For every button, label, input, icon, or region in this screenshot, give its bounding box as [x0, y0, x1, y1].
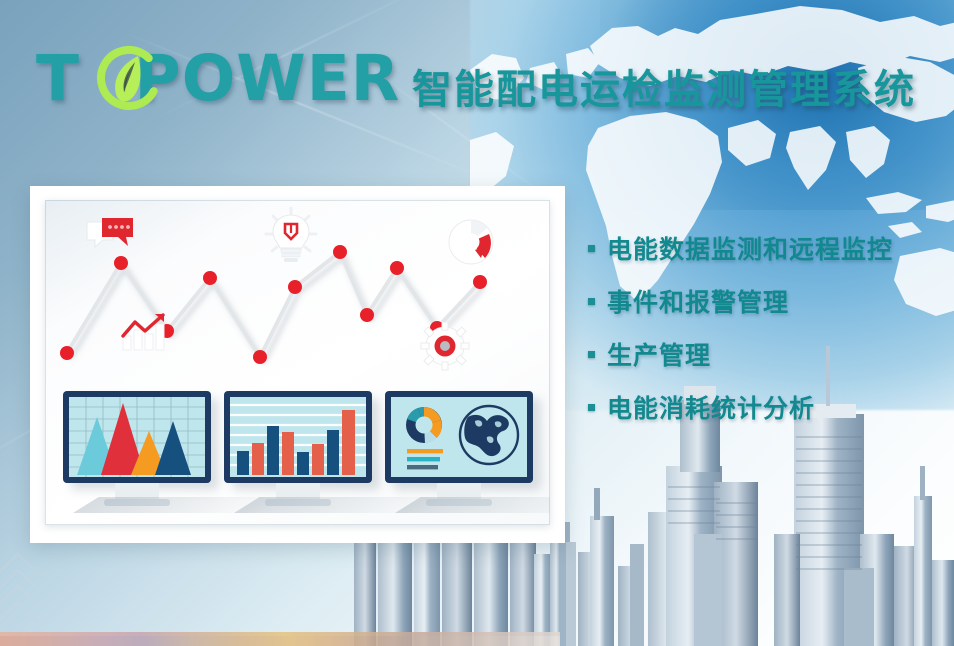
feature-label: 生产管理: [607, 336, 711, 372]
screen-bezel: [385, 391, 533, 483]
feature-label: 事件和报警管理: [607, 283, 789, 319]
bottom-photo-strip: [0, 632, 560, 646]
monitor-base: [426, 499, 492, 506]
promo-banner: TOPOWER 智能配电运检监测管理系统 电能数据监测和远程监控 事件和报警管理…: [0, 0, 954, 646]
bar-chart-trend-icon: [119, 312, 167, 352]
gear-icon: [419, 320, 471, 372]
chat-bubble-icon: [85, 216, 135, 256]
vertical-bar-chart: [230, 397, 366, 477]
monitor-neck: [437, 483, 481, 499]
monitor-bar-chart: [224, 391, 372, 511]
screen-bezel: [224, 391, 372, 483]
illustration-canvas: [45, 200, 550, 525]
donut-chart: [406, 407, 442, 443]
monitor-base: [265, 499, 331, 506]
logo-wordmark: TOPOWER: [36, 47, 400, 110]
list-item: 事件和报警管理: [588, 283, 938, 319]
list-item: 生产管理: [588, 336, 938, 372]
dashboard-graphic: [391, 397, 527, 477]
brand-logo: TOPOWER: [36, 42, 400, 114]
monitor-neck: [115, 483, 159, 499]
monitor-base: [104, 499, 170, 506]
bullet-square-icon: [588, 404, 595, 411]
illustration-panel: [30, 186, 565, 543]
list-item: 电能数据监测和远程监控: [588, 230, 938, 266]
area-peaks-chart: [69, 397, 205, 477]
bullet-square-icon: [588, 298, 595, 305]
feature-list: 电能数据监测和远程监控 事件和报警管理 生产管理 电能消耗统计分析: [588, 230, 938, 442]
feature-label: 电能消耗统计分析: [607, 389, 815, 425]
logo-text-power: POWER: [135, 42, 401, 115]
list-item: 电能消耗统计分析: [588, 389, 938, 425]
leaf-in-circle-icon: [92, 40, 166, 114]
chevron-arrows-decoration: [0, 548, 86, 628]
logo-letter-t: T: [36, 42, 80, 115]
pie-chart-icon: [445, 216, 497, 268]
page-title: 智能配电运检监测管理系统: [412, 57, 916, 115]
light-bulb-icon: [263, 206, 319, 268]
screen-bezel: [63, 391, 211, 483]
screen-content: [391, 397, 527, 477]
feature-label: 电能数据监测和远程监控: [607, 230, 893, 266]
screen-content: [230, 397, 366, 477]
monitors-row: [63, 391, 533, 511]
monitor-area-chart: [63, 391, 211, 511]
monitor-dashboard: [385, 391, 533, 511]
bullet-square-icon: [588, 351, 595, 358]
monitor-neck: [276, 483, 320, 499]
bullet-square-icon: [588, 245, 595, 252]
screen-content: [69, 397, 205, 477]
